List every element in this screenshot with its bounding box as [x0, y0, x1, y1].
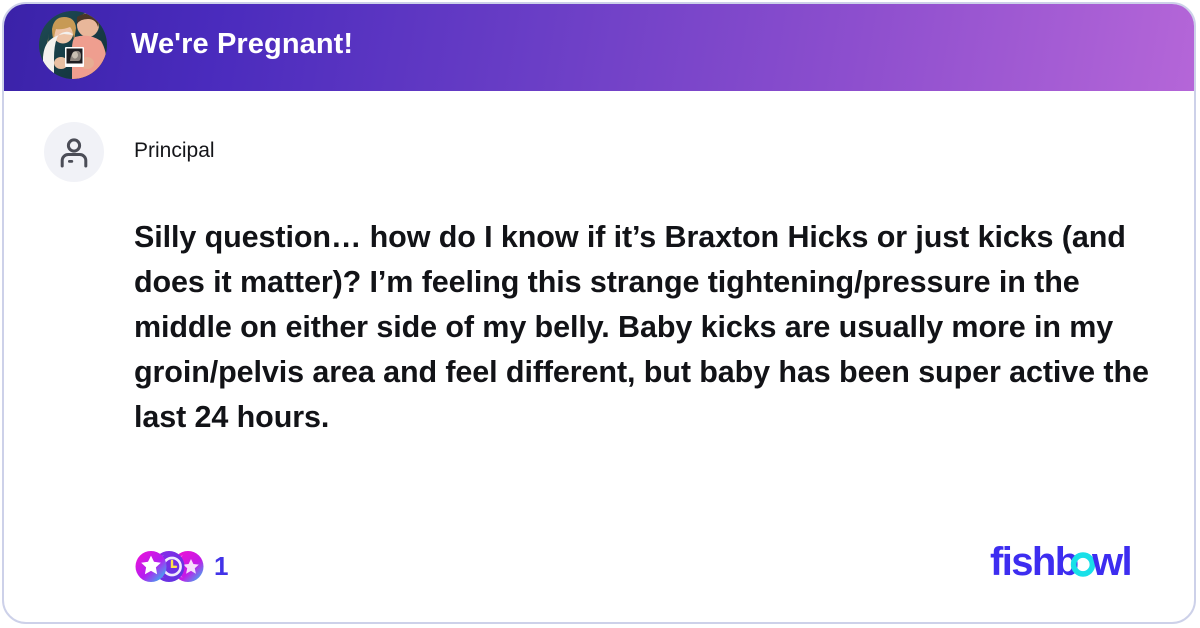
reactions-group[interactable]: 1	[135, 548, 228, 584]
post-card: We're Pregnant! Principal Silly question…	[2, 2, 1196, 624]
post-body-text: Silly question… how do I know if it’s Br…	[134, 215, 1154, 440]
fishbowl-wordmark-icon: fishb wl	[990, 540, 1136, 586]
screenshot-root: We're Pregnant! Principal Silly question…	[0, 0, 1200, 628]
svg-text:wl: wl	[1091, 540, 1131, 584]
fishbowl-logo: fishb wl	[990, 540, 1136, 590]
reaction-badges-icon	[135, 550, 205, 583]
avatar[interactable]	[44, 122, 104, 182]
group-title: We're Pregnant!	[131, 28, 353, 61]
group-header[interactable]: We're Pregnant!	[2, 2, 1196, 91]
reaction-count-label: 1	[214, 550, 228, 583]
reaction-badges[interactable]	[135, 550, 205, 583]
group-avatar[interactable]	[39, 11, 107, 79]
anonymous-person-icon	[58, 136, 90, 168]
author-title-label: Principal	[134, 139, 215, 163]
svg-text:fishb: fishb	[990, 540, 1078, 584]
couple-ultrasound-photo-icon	[39, 11, 107, 79]
post-author-row: Principal	[4, 122, 1194, 182]
